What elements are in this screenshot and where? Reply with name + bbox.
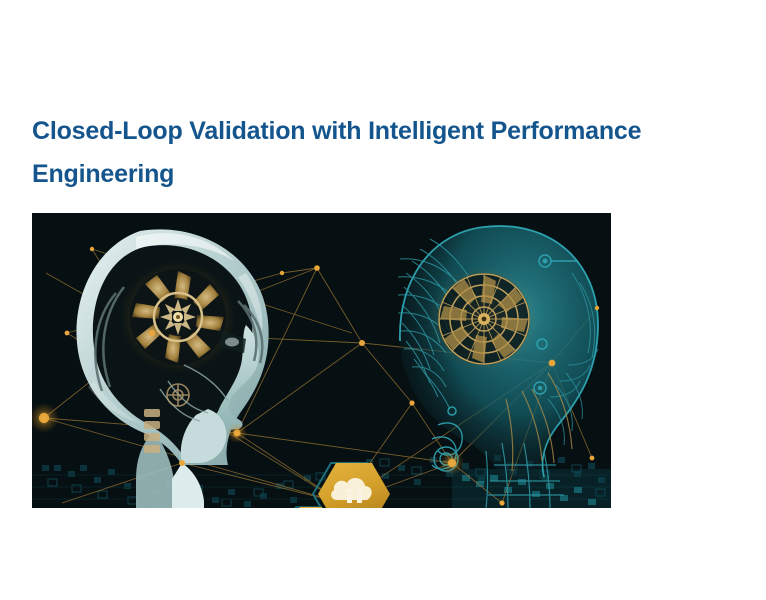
- page-title: Closed-Loop Validation with Intelligent …: [32, 110, 732, 196]
- hero-illustration: [32, 213, 611, 508]
- hero-image: [32, 213, 611, 508]
- article-page: Closed-Loop Validation with Intelligent …: [0, 0, 766, 600]
